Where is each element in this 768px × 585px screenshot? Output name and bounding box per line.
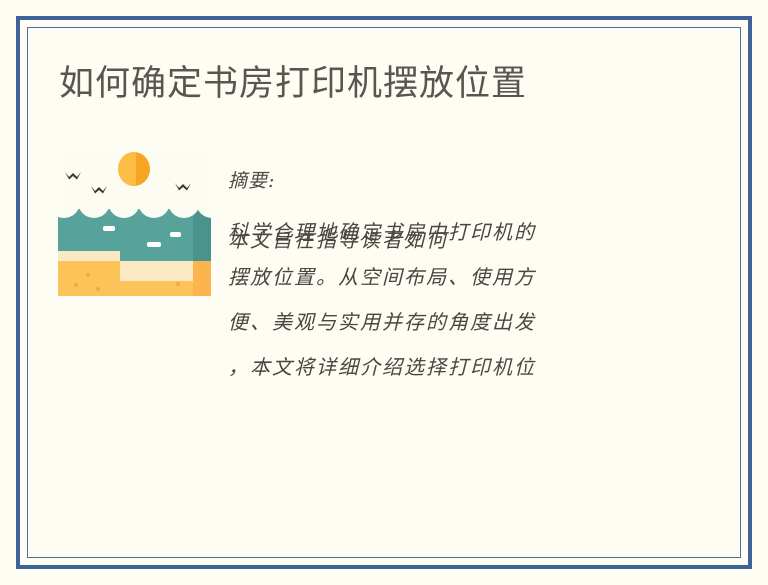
wave-crest	[58, 202, 80, 218]
wave-crest	[78, 202, 110, 218]
abstract-body: 科学合理地确定书房中打印机的 本文旨在指导读者如何 摆放位置。从空间布局、使用方…	[228, 210, 648, 390]
beach-illustration	[58, 149, 211, 296]
wave-crest	[108, 202, 140, 218]
bird-icon	[64, 171, 82, 180]
abstract-label: 摘要:	[228, 168, 648, 194]
water-highlight	[170, 232, 181, 237]
sand-band	[58, 261, 211, 296]
sand-speck	[96, 287, 100, 291]
page-title: 如何确定书房打印机摆放位置	[59, 60, 527, 108]
bird-icon	[174, 182, 192, 191]
sand-speck	[86, 273, 90, 277]
article-card-page: 如何确定书房打印机摆放位置	[0, 0, 768, 585]
wave-crest	[196, 202, 211, 218]
abstract-block: 摘要: 科学合理地确定书房中打印机的 本文旨在指导读者如何 摆放位置。从空间布局…	[228, 168, 648, 390]
sand-shadow	[193, 261, 211, 296]
water-highlight	[147, 242, 161, 247]
card-content: 如何确定书房打印机摆放位置	[28, 28, 740, 557]
sun-icon	[118, 152, 150, 186]
water-highlight	[103, 226, 115, 231]
wave-crest	[138, 202, 170, 218]
abstract-line: 便、美观与实用并存的角度出发	[228, 300, 648, 345]
wave-foam-row	[58, 202, 211, 218]
sand-speck	[74, 283, 78, 287]
overlapping-text-row: 科学合理地确定书房中打印机的 本文旨在指导读者如何	[228, 210, 648, 255]
abstract-overlap-line-2: 本文旨在指导读者如何	[228, 218, 448, 263]
bird-icon	[90, 185, 108, 194]
abstract-line: ，本文将详细介绍选择打印机位	[228, 345, 648, 390]
sand-speck	[176, 282, 180, 286]
